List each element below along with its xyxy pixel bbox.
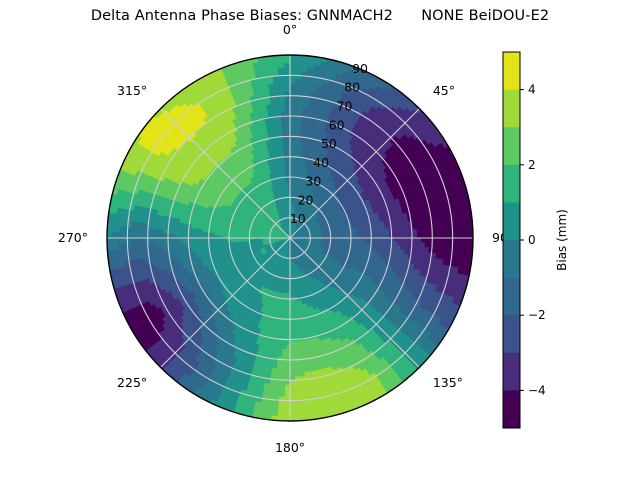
- contour-cell: [296, 329, 300, 333]
- contour-cell: [283, 131, 287, 135]
- contour-cell: [381, 228, 385, 232]
- contour-cell: [283, 341, 287, 345]
- contour-cell: [203, 241, 207, 244]
- contour-cell: [183, 242, 187, 246]
- contour-cell: [293, 325, 296, 329]
- figure-canvas: Delta Antenna Phase Biases: GNNMACH2 NON…: [0, 0, 640, 480]
- contour-cell: [183, 238, 187, 242]
- contour-cell: [293, 313, 296, 317]
- contour-cell: [397, 234, 401, 238]
- contour-cell: [283, 333, 287, 337]
- contour-cell: [183, 245, 187, 249]
- contour-cell: [393, 238, 397, 242]
- contour-cell: [294, 131, 298, 135]
- contour-cell: [294, 345, 298, 349]
- figure-title: Delta Antenna Phase Biases: GNNMACH2 NON…: [0, 8, 640, 24]
- contour-cell: [293, 139, 297, 143]
- contour-cell: [286, 341, 290, 345]
- contour-cell: [293, 329, 296, 333]
- contour-cell: [377, 232, 381, 235]
- contour-cell: [385, 231, 389, 235]
- contour-cell: [397, 238, 401, 242]
- contour-cell: [385, 241, 389, 245]
- contour-cell: [381, 231, 385, 234]
- contour-cell: [393, 234, 397, 238]
- contour-cell: [293, 333, 297, 337]
- contour-cell: [280, 139, 284, 143]
- contour-cell: [397, 230, 401, 234]
- contour-cell: [393, 231, 397, 235]
- contour-cell: [183, 231, 187, 235]
- contour-cell: [297, 345, 301, 349]
- contour-cell: [393, 227, 397, 231]
- contour-cell: [297, 333, 301, 337]
- contour-cell: [195, 241, 199, 244]
- contour-cell: [195, 244, 199, 248]
- contour-cell: [183, 234, 187, 238]
- contour-cell: [290, 341, 294, 345]
- contour-cell: [294, 127, 298, 131]
- contour-cell: [179, 238, 183, 242]
- contour-cell: [284, 147, 287, 151]
- contour-cell: [284, 158, 287, 162]
- contour-cell: [191, 241, 195, 245]
- contour-cell: [393, 242, 397, 246]
- contour-cell: [282, 345, 286, 349]
- contour-cell: [385, 228, 389, 232]
- contour-cell: [279, 131, 283, 135]
- contour-cell: [293, 321, 296, 325]
- contour-cell: [280, 143, 284, 147]
- contour-cell: [365, 232, 369, 235]
- contour-cell: [199, 241, 203, 244]
- contour-cell: [286, 131, 290, 135]
- contour-cell: [179, 234, 183, 238]
- contour-cell: [373, 232, 377, 235]
- contour-cell: [290, 131, 294, 135]
- contour-cell: [210, 241, 214, 244]
- contour-cell: [286, 345, 290, 349]
- contour-cell: [290, 127, 294, 131]
- contour-cell: [179, 245, 183, 249]
- contour-cell: [297, 341, 301, 345]
- contour-cell: [283, 143, 286, 147]
- contour-cell: [179, 242, 183, 246]
- contour-cell: [283, 139, 287, 143]
- contour-cell: [397, 242, 401, 246]
- contour-cell: [191, 245, 195, 249]
- contour-cell: [294, 341, 298, 345]
- contour-cell: [397, 226, 401, 230]
- contour-cell: [290, 345, 294, 349]
- contour-cell: [191, 231, 195, 235]
- polar-plot: 0°45°90135°180°225°270°315° 102030405060…: [0, 0, 640, 480]
- contour-cell: [284, 151, 287, 155]
